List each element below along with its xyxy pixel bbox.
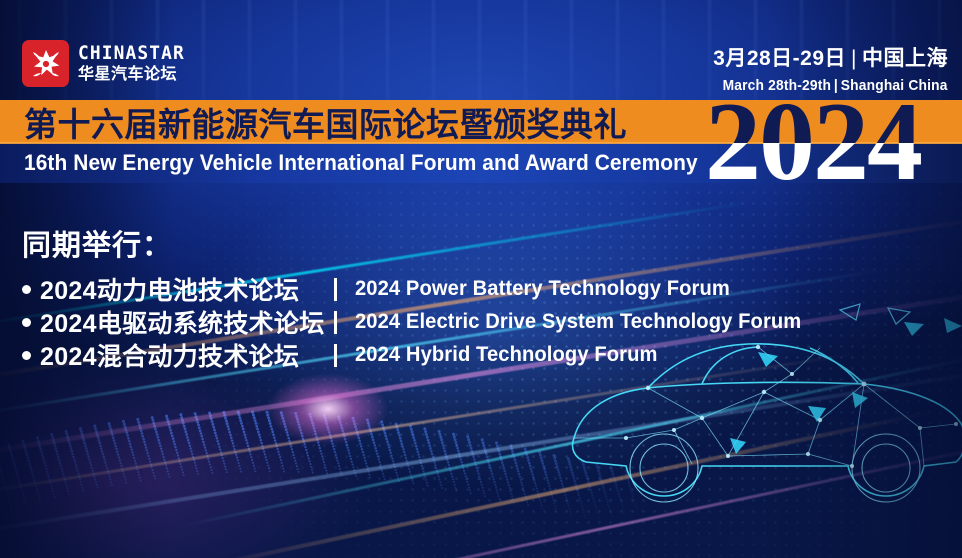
year-2024-graphic: 2024 2024 xyxy=(705,96,962,188)
separator-bar xyxy=(334,278,337,301)
separator-bar xyxy=(334,311,337,334)
main-title-en: 16th New Energy Vehicle International Fo… xyxy=(24,145,698,181)
chinastar-logo[interactable]: CHINASTAR 华星汽车论坛 xyxy=(22,40,192,87)
date-en-location: Shanghai China xyxy=(841,77,948,94)
list-item[interactable]: 2024混合动力技术论坛 2024 Hybrid Technology Foru… xyxy=(22,340,820,370)
date-en-range: March 28th-29th xyxy=(723,77,832,94)
forum-name-en: 2024 Hybrid Technology Forum xyxy=(355,343,658,367)
list-item[interactable]: 2024电驱动系统技术论坛 2024 Electric Drive System… xyxy=(22,307,820,337)
forum-name-cn: 2024混合动力技术论坛 xyxy=(40,337,330,373)
logo-name-en: CHINASTAR xyxy=(78,44,185,63)
concurrent-forums-heading: 同期举行： xyxy=(22,222,820,264)
separator-bar xyxy=(334,344,337,367)
date-cn-separator: | xyxy=(846,47,862,70)
date-cn-location: 中国上海 xyxy=(862,47,948,70)
forum-name-cn: 2024动力电池技术论坛 xyxy=(40,271,330,307)
bullet-icon xyxy=(22,351,31,360)
date-cn-range: 3月28日-29日 xyxy=(713,47,846,70)
forum-name-en: 2024 Electric Drive System Technology Fo… xyxy=(355,310,801,334)
event-date-cn: 3月28日-29日|中国上海 xyxy=(703,42,948,72)
chinastar-star-emblem-icon xyxy=(22,40,69,87)
concurrent-forums-section: 同期举行： 2024动力电池技术论坛 2024 Power Battery Te… xyxy=(22,222,820,373)
bullet-icon xyxy=(22,285,31,294)
forum-name-cn: 2024电驱动系统技术论坛 xyxy=(40,304,330,340)
logo-name-cn: 华星汽车论坛 xyxy=(78,67,192,83)
list-item[interactable]: 2024动力电池技术论坛 2024 Power Battery Technolo… xyxy=(22,274,820,304)
forum-name-en: 2024 Power Battery Technology Forum xyxy=(355,277,730,301)
event-date-block: 3月28日-29日|中国上海 March 28th-29th|Shanghai … xyxy=(703,42,948,94)
poster-banner: CHINASTAR 华星汽车论坛 3月28日-29日|中国上海 March 28… xyxy=(0,0,962,558)
bullet-icon xyxy=(22,318,31,327)
event-date-en: March 28th-29th|Shanghai China xyxy=(723,77,948,94)
main-title-cn: 第十六届新能源汽车国际论坛暨颁奖典礼 xyxy=(24,101,627,142)
